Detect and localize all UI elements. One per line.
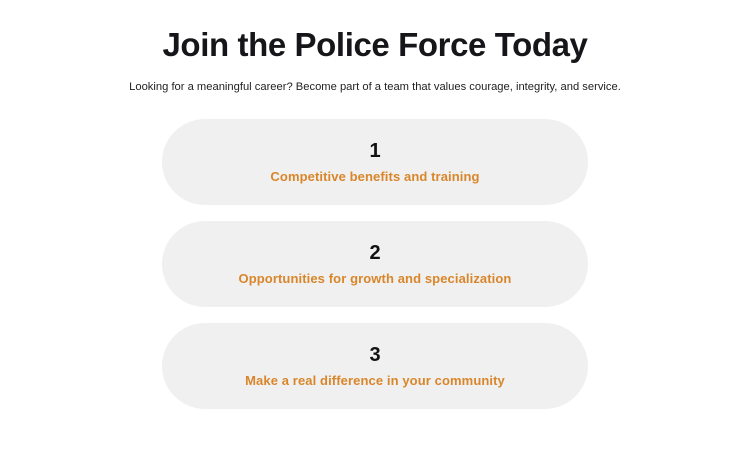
benefit-card-label: Competitive benefits and training [270, 170, 479, 183]
page-subtitle: Looking for a meaningful career? Become … [0, 80, 750, 95]
benefit-card-label: Opportunities for growth and specializat… [239, 272, 512, 285]
benefit-card-1[interactable]: 1 Competitive benefits and training [162, 119, 588, 205]
landing-page: Join the Police Force Today Looking for … [0, 0, 750, 449]
page-title: Join the Police Force Today [0, 27, 750, 64]
benefit-card-number: 2 [369, 243, 380, 263]
benefit-card-number: 3 [369, 345, 380, 365]
benefit-card-2[interactable]: 2 Opportunities for growth and specializ… [162, 221, 588, 307]
benefit-card-3[interactable]: 3 Make a real difference in your communi… [162, 323, 588, 409]
benefits-card-list: 1 Competitive benefits and training 2 Op… [0, 119, 750, 409]
benefit-card-label: Make a real difference in your community [245, 374, 505, 387]
benefit-card-number: 1 [369, 141, 380, 161]
page-header: Join the Police Force Today Looking for … [0, 0, 750, 95]
